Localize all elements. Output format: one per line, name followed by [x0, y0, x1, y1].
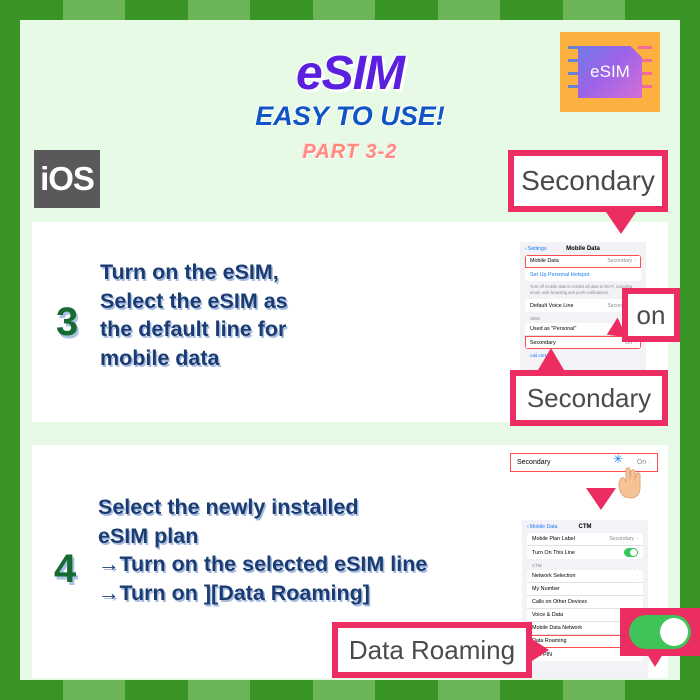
frame-block	[563, 680, 626, 700]
row-network-selection[interactable]: Network Selection ›	[527, 570, 643, 583]
row-my-number-label: My Number	[532, 586, 560, 592]
esim-chip-logo: eSIM	[560, 32, 660, 112]
callout-toggle-pointer	[647, 654, 663, 667]
row-used-as-personal-label: Used as "Personal"	[530, 326, 576, 332]
frame-bottom-border	[0, 680, 700, 700]
row-mobile-data[interactable]: Mobile Data Secondary ›	[525, 255, 641, 268]
frame-block	[500, 0, 563, 20]
callout-secondary-bottom-pointer	[538, 348, 564, 370]
step-4-number: 4	[54, 547, 76, 592]
frame-block	[250, 680, 313, 700]
frame-block	[313, 680, 376, 700]
phone-screen-title: Mobile Data	[520, 246, 646, 252]
frame-block	[188, 0, 251, 20]
row-personal-hotspot[interactable]: Set Up Personal Hotspot	[525, 268, 641, 281]
phone-nav-bar: ‹ Mobile Data CTM	[522, 520, 648, 533]
row-personal-hotspot-label: Set Up Personal Hotspot	[530, 272, 589, 278]
row-mobile-data-value: Secondary	[607, 258, 632, 264]
chevron-right-icon: ›	[636, 573, 638, 579]
esim-chip-graphic: eSIM	[578, 46, 642, 98]
frame-top-border	[0, 0, 700, 20]
row-calls-on-other-devices-label: Calls on Other Devices	[532, 599, 587, 605]
frame-block	[188, 680, 251, 700]
row-default-voice-line-label: Default Voice Line	[530, 303, 573, 309]
esim-logo-label: eSIM	[590, 62, 630, 82]
row-turn-on-this-line[interactable]: Turn On This Line	[527, 546, 643, 559]
turn-on-this-line-toggle[interactable]	[624, 548, 638, 557]
callout-on-label: on	[628, 294, 674, 336]
step4-pointer-triangle	[586, 488, 616, 510]
row-mobile-plan-label[interactable]: Mobile Plan Label Secondary ›	[527, 533, 643, 546]
callout-data-roaming-pointer	[532, 639, 549, 661]
callout-data-roaming: Data Roaming	[332, 622, 532, 678]
row-secondary-sim-label: Secondary	[530, 340, 556, 346]
row-mobile-data-network-label: Mobile Data Network	[532, 625, 582, 631]
step-4-text: Select the newly installed eSIM plan →Tu…	[98, 493, 427, 607]
line-detail-group-1: Mobile Plan Label Secondary › Turn On Th…	[527, 533, 643, 559]
frame-block	[438, 680, 501, 700]
frame-block	[563, 0, 626, 20]
step-3-text: Turn on the eSIM, Select the eSIM as the…	[100, 258, 288, 372]
callout-secondary-top-label: Secondary	[514, 156, 662, 206]
frame-block	[625, 680, 688, 700]
phone-screen-title: CTM	[522, 524, 648, 530]
row-turn-on-this-line-label: Turn On This Line	[532, 550, 575, 556]
frame-block	[375, 0, 438, 20]
frame-block	[250, 0, 313, 20]
row-network-selection-label: Network Selection	[532, 573, 575, 579]
frame-block	[438, 0, 501, 20]
data-roaming-toggle-enlarged[interactable]	[629, 615, 691, 649]
step-3-number: 3	[56, 300, 78, 345]
poster-canvas: iOS eSIM EASY TO USE! PART 3-2 eSIM 3 Tu…	[20, 20, 680, 680]
tap-target-label: Secondary	[517, 459, 550, 466]
chevron-right-icon: ›	[649, 460, 651, 466]
callout-secondary-bottom-label: Secondary	[516, 376, 662, 420]
frame-block	[625, 0, 688, 20]
carrier-section-header: CTM	[522, 559, 648, 570]
callout-on: on	[622, 288, 680, 342]
chevron-right-icon: ›	[636, 536, 638, 542]
row-mobile-plan-label-value: Secondary	[609, 536, 634, 542]
frame-block	[500, 680, 563, 700]
hand-cursor-icon	[615, 463, 645, 499]
frame-block	[63, 680, 126, 700]
callout-secondary-top-pointer	[606, 212, 636, 234]
chevron-right-icon: ›	[634, 258, 636, 264]
row-mobile-plan-label-text: Mobile Plan Label	[532, 536, 575, 542]
callout-data-roaming-toggle	[620, 608, 700, 656]
frame-block	[63, 0, 126, 20]
frame-block	[125, 0, 188, 20]
row-my-number[interactable]: My Number	[527, 583, 643, 596]
frame-block	[375, 680, 438, 700]
row-voice-and-data-label: Voice & Data	[532, 612, 563, 618]
mobile-data-group-1: Mobile Data Secondary › Set Up Personal …	[525, 255, 641, 281]
callout-secondary-top: Secondary	[508, 150, 668, 212]
phone-nav-bar: ‹ Settings Mobile Data	[520, 242, 646, 255]
frame-right-border	[680, 0, 700, 700]
callout-secondary-bottom: Secondary	[510, 370, 668, 426]
callout-data-roaming-label: Data Roaming	[338, 628, 526, 672]
frame-block	[313, 0, 376, 20]
frame-left-border	[0, 0, 20, 700]
row-mobile-data-label: Mobile Data	[530, 258, 559, 264]
frame-block	[125, 680, 188, 700]
